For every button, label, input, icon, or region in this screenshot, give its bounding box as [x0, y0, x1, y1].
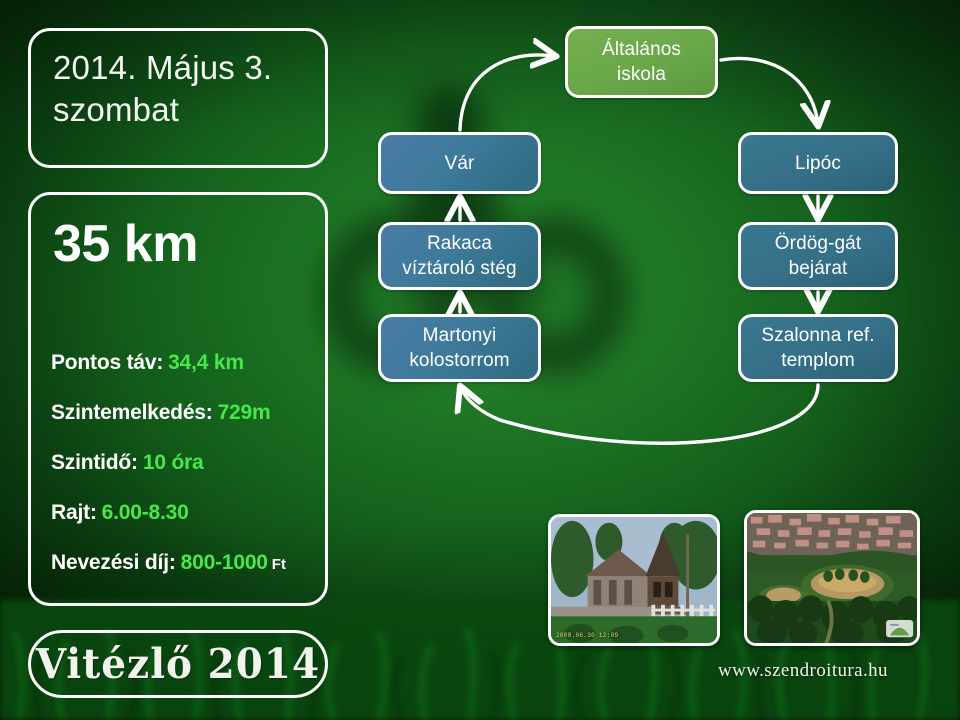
event-date-panel: 2014. Május 3.szombat	[28, 28, 328, 168]
stat-row: Nevezési díj: 800-1000 Ft	[51, 551, 325, 575]
stats-list: Pontos táv: 34,4 km Szintemelkedés: 729m…	[51, 351, 325, 575]
route-node-rakaca-viztarolo-steg[interactable]: Rakaca víztároló stég	[378, 222, 541, 290]
stat-label: Nevezési díj:	[51, 551, 176, 575]
route-node-altalanos-iskola[interactable]: Általános iskola	[565, 26, 718, 98]
stat-label: Szintemelkedés:	[51, 401, 213, 425]
stat-value: 10 óra	[143, 451, 204, 475]
photo-church[interactable]: 2008.06.30 12:09	[548, 514, 720, 646]
stat-row: Pontos táv: 34,4 km	[51, 351, 325, 375]
route-node-szalonna-ref-templom[interactable]: Szalonna ref. templom	[738, 314, 898, 382]
event-stats-panel: 35 km Pontos táv: 34,4 km Szintemelkedés…	[28, 192, 328, 606]
stat-value: 729m	[218, 401, 271, 425]
stat-row: Szintidő: 10 óra	[51, 451, 325, 475]
event-logo-text: Vitézlő 2014	[36, 640, 320, 689]
event-date-text: 2014. Május 3.szombat	[53, 47, 305, 131]
distance-headline: 35 km	[53, 213, 325, 275]
photo-timestamp: 2008.06.30 12:09	[556, 632, 618, 639]
stat-row: Rajt: 6.00-8.30	[51, 501, 325, 525]
photo-aerial-hillfort[interactable]	[744, 510, 920, 646]
poster-canvas: 2014. Május 3.szombat 35 km Pontos táv: …	[0, 0, 960, 720]
stat-label: Pontos táv:	[51, 351, 163, 375]
event-logo-panel: Vitézlő 2014	[28, 630, 328, 698]
website-url[interactable]: www.szendroitura.hu	[718, 660, 888, 682]
stat-label: Rajt:	[51, 501, 97, 525]
stat-value: 6.00-8.30	[102, 501, 189, 525]
event-date-line1: 2014. Május 3.	[53, 49, 272, 86]
route-node-martonyi-kolostorrom[interactable]: Martonyi kolostorrom	[378, 314, 541, 382]
stat-label: Szintidő:	[51, 451, 138, 475]
route-node-var[interactable]: Vár	[378, 132, 541, 194]
route-node-lipoc[interactable]: Lipóc	[738, 132, 898, 194]
event-date-line2: szombat	[53, 91, 179, 128]
stat-value: 34,4 km	[168, 351, 244, 375]
stat-value: 800-1000	[181, 551, 268, 575]
stat-row: Szintemelkedés: 729m	[51, 401, 325, 425]
stat-suffix: Ft	[272, 556, 286, 573]
route-flowchart: Általános iskola Vár Rakaca víztároló st…	[340, 0, 960, 470]
route-node-ordog-gat-bejarat[interactable]: Ördög-gát bejárat	[738, 222, 898, 290]
